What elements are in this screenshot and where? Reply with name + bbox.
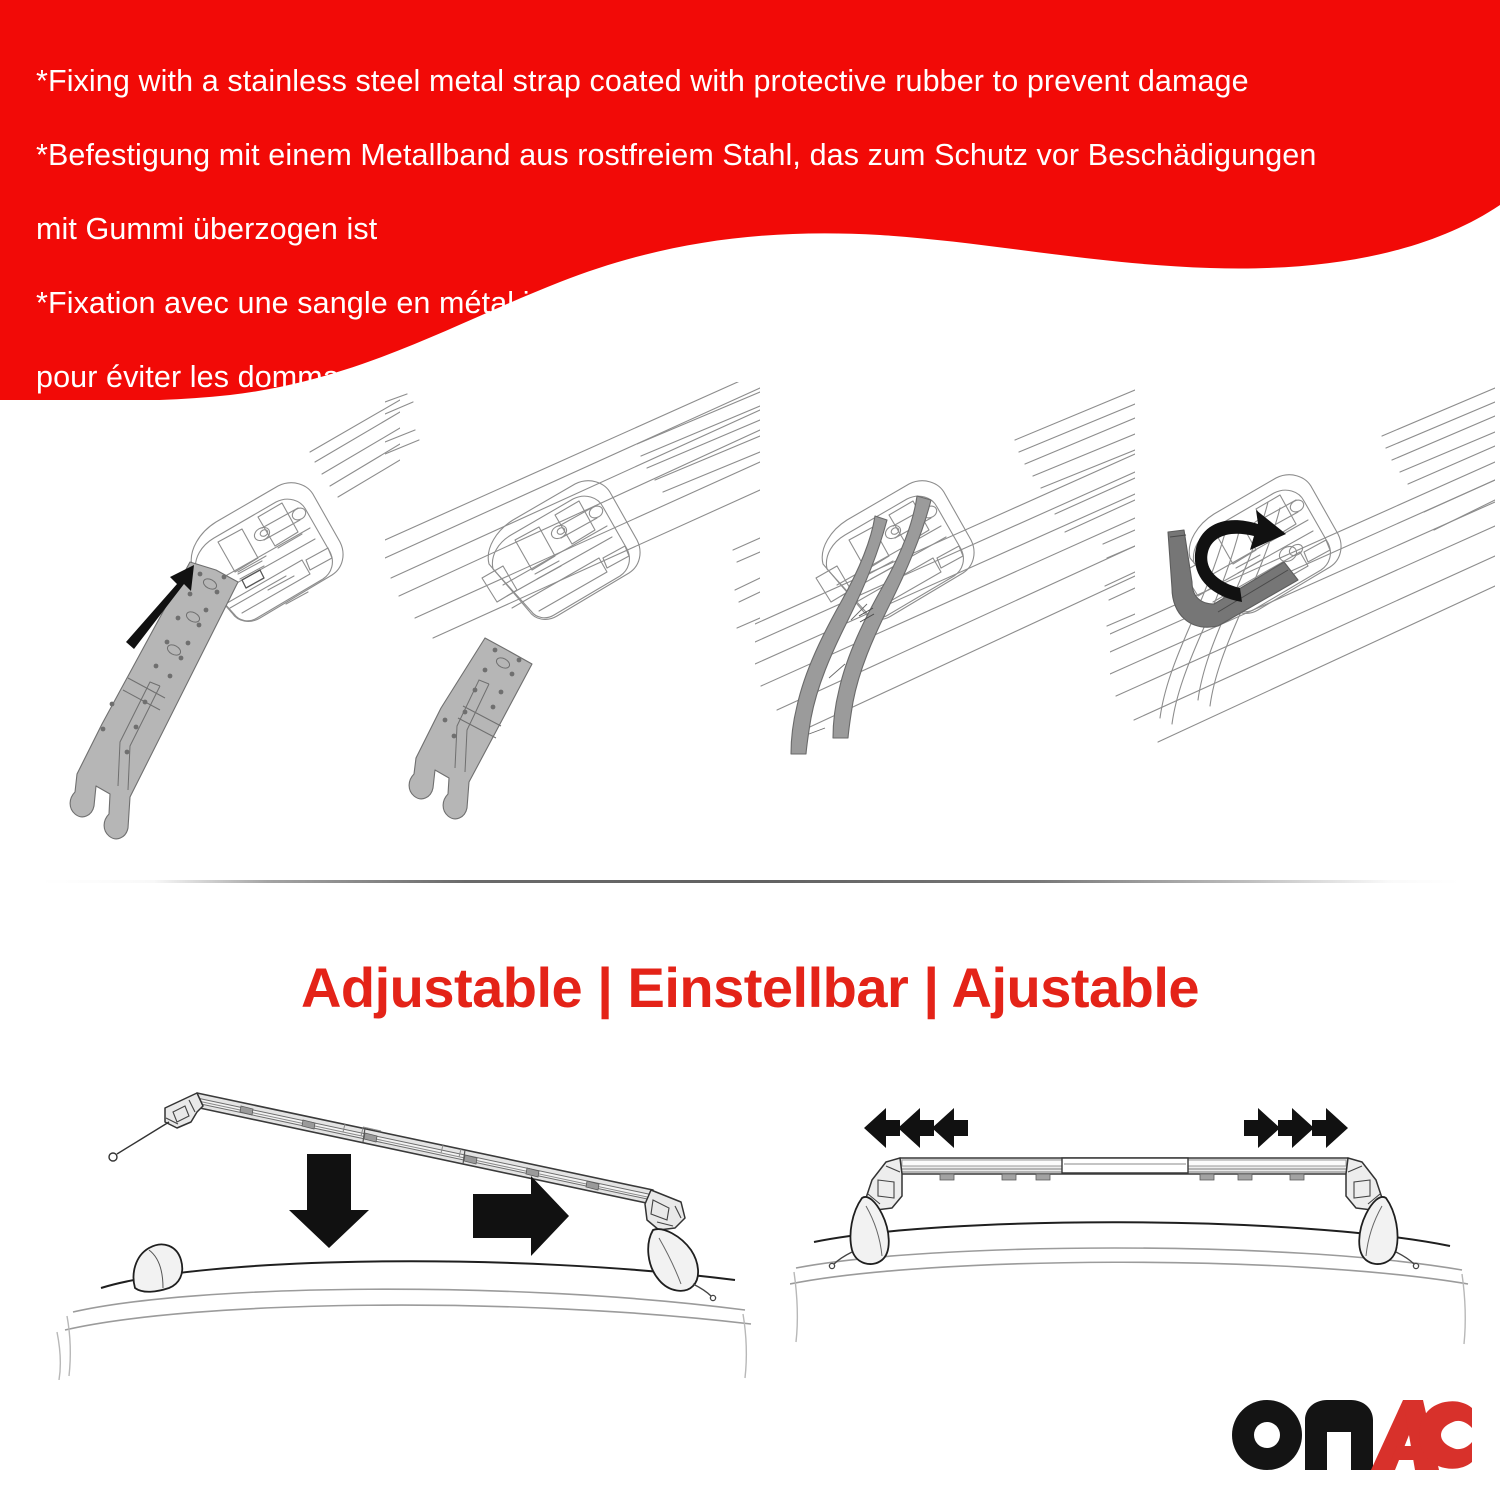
- step-4-tighten-with-allen-key: [1110, 382, 1495, 852]
- illustration-crossbar-width-adjustment: [790, 1070, 1470, 1380]
- logo-letter-m: [1305, 1400, 1373, 1470]
- step-3-illustration: [755, 382, 1135, 852]
- omac-logo-mark: [1227, 1390, 1472, 1472]
- banner-line-2: *Befestigung mit einem Metallband aus ro…: [36, 137, 1466, 174]
- red-banner: *Fixing with a stainless steel metal str…: [0, 0, 1500, 400]
- down-arrow-icon: [289, 1154, 369, 1248]
- logo-letter-o: [1232, 1400, 1302, 1470]
- step-1-illustration: [10, 382, 400, 852]
- installation-steps-row: [0, 382, 1500, 852]
- step-3-strap-wrapped-around-roof-rail: [755, 382, 1135, 852]
- step-1-insert-metal-strap-into-clamp: [10, 382, 400, 852]
- bottom-illustrations-row: [0, 1070, 1500, 1380]
- banner-line-3: mit Gummi überzogen ist: [36, 211, 1466, 248]
- banner-line-4: *Fixation avec une sangle en métal inoxy…: [36, 285, 1466, 322]
- crossbar-width-illustration: [790, 1070, 1470, 1380]
- step-2-strap-positioned-under-roof-rail: [385, 382, 760, 852]
- right-arrow-icon: [473, 1176, 569, 1256]
- illustration-crossbar-lowering-onto-roof: [45, 1070, 755, 1380]
- banner-line-1: *Fixing with a stainless steel metal str…: [36, 63, 1466, 100]
- crossbar-lowering-illustration: [45, 1070, 755, 1380]
- step-2-illustration: [385, 382, 760, 852]
- adjustable-heading: Adjustable | Einstellbar | Ajustable: [0, 955, 1500, 1020]
- infographic-page: *Fixing with a stainless steel metal str…: [0, 0, 1500, 1500]
- omac-logo: [1227, 1390, 1472, 1472]
- banner-text-block: *Fixing with a stainless steel metal str…: [36, 26, 1466, 400]
- section-divider: [40, 880, 1460, 883]
- triple-left-arrow-icon: [864, 1108, 968, 1148]
- triple-right-arrow-icon: [1244, 1108, 1348, 1148]
- step-4-illustration: [1110, 382, 1495, 852]
